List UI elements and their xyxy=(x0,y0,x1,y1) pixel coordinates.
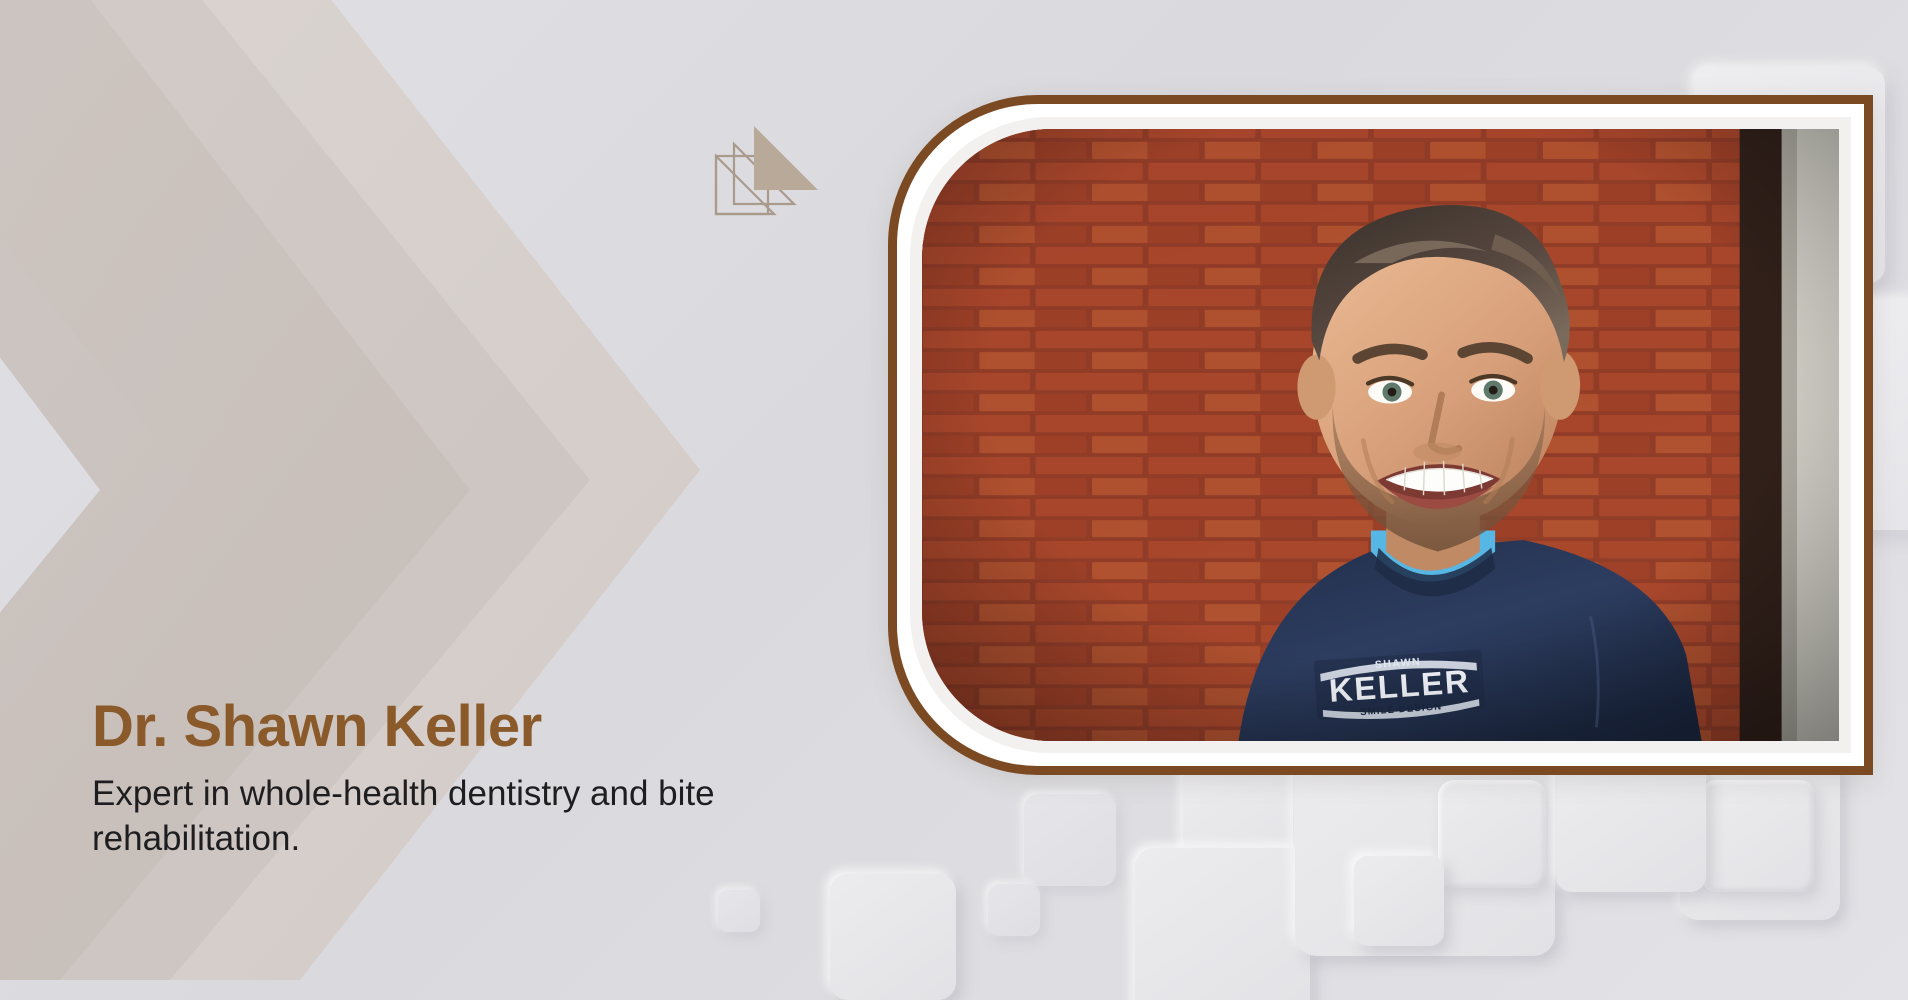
frame-matte: SHAWN KELLER SMILE DESIGN xyxy=(910,117,1851,753)
triangles-logo-icon xyxy=(710,118,830,228)
page-title: Dr. Shawn Keller xyxy=(92,697,912,758)
decor-square xyxy=(718,890,760,932)
decor-square xyxy=(1024,794,1116,886)
decor-square xyxy=(1354,856,1444,946)
decor-square-inset xyxy=(1702,780,1814,892)
decor-square xyxy=(1135,848,1310,1000)
decor-square-inset xyxy=(1438,780,1546,888)
text-block: Dr. Shawn Keller Expert in whole-health … xyxy=(92,697,912,861)
decor-square xyxy=(988,884,1040,936)
decor-square xyxy=(830,874,956,1000)
portrait-photo: SHAWN KELLER SMILE DESIGN xyxy=(922,129,1839,741)
page-subtitle: Expert in whole-health dentistry and bit… xyxy=(92,772,882,862)
decor-square xyxy=(1556,762,1706,892)
portrait-frame: SHAWN KELLER SMILE DESIGN xyxy=(888,95,1873,775)
promo-banner: SHAWN KELLER SMILE DESIGN Dr. Shawn Kell… xyxy=(0,0,1908,1000)
